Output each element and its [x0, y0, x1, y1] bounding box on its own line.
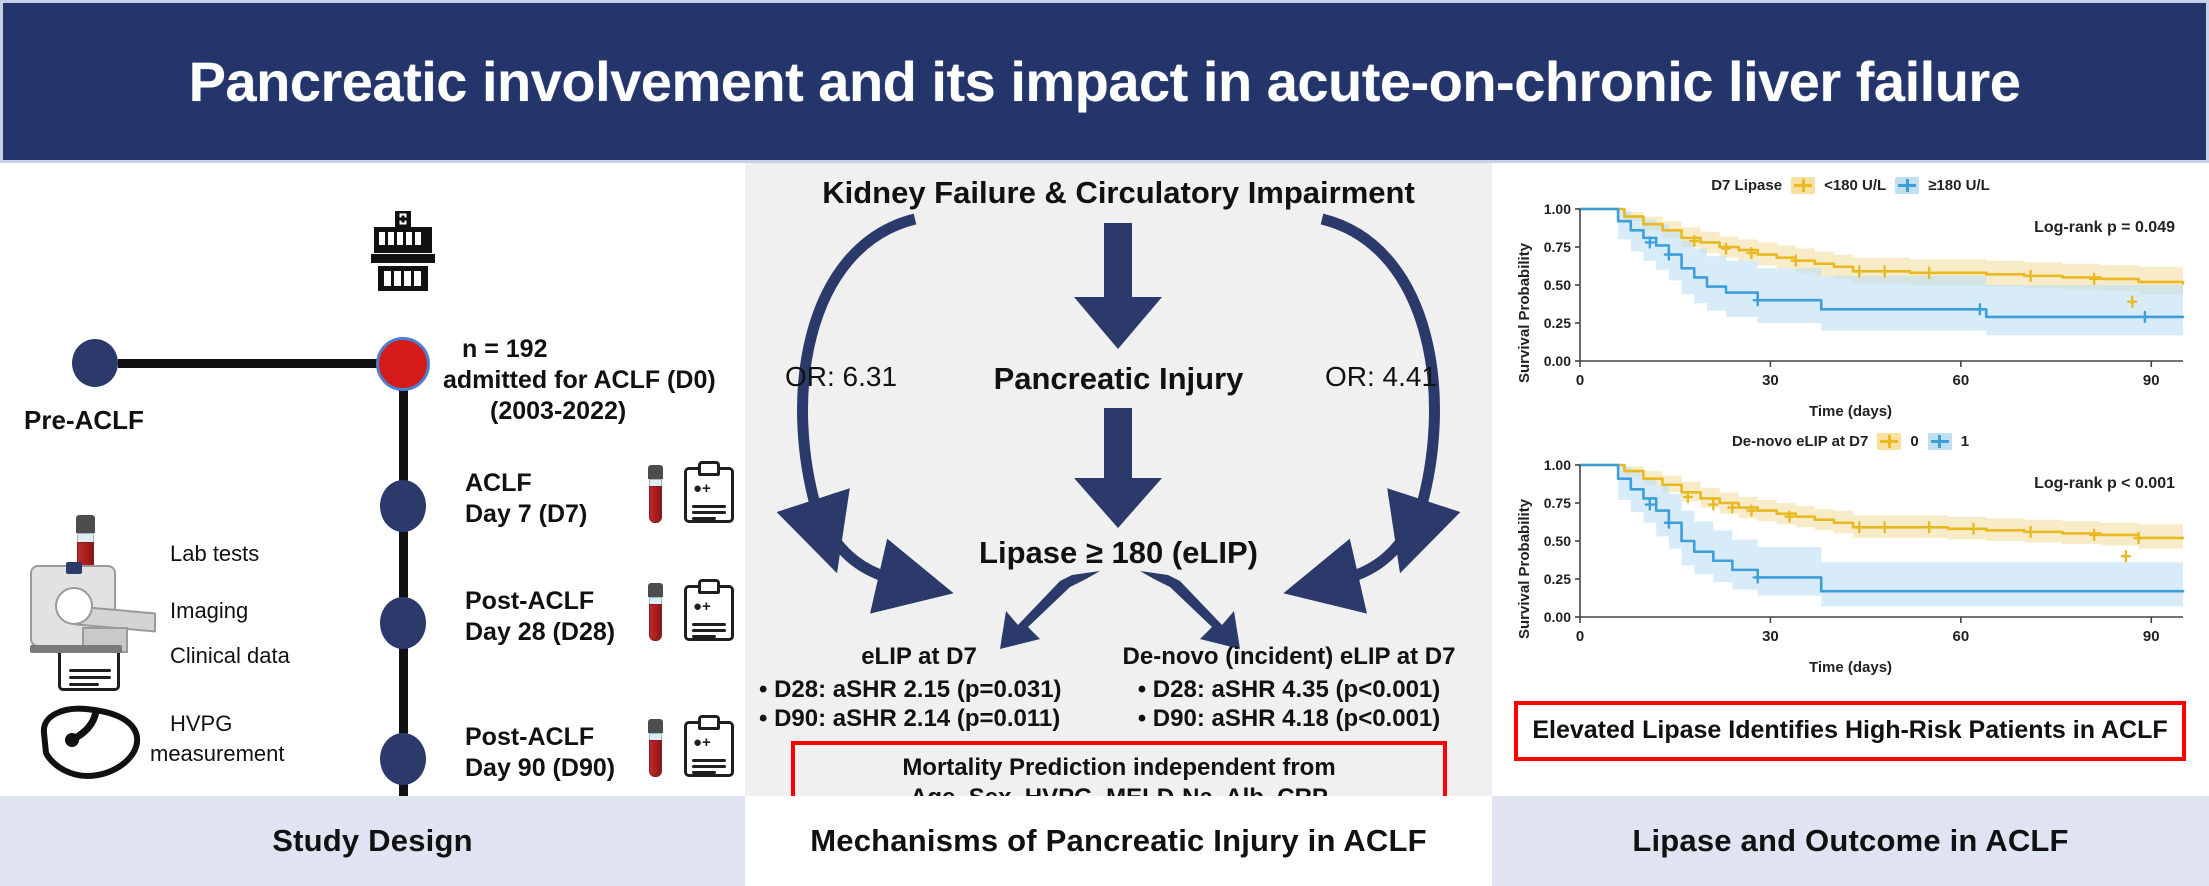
admission-detail: admitted for ACLF (D0) [443, 366, 716, 395]
svg-text:0: 0 [1576, 628, 1584, 645]
outcome-callout-box: Elevated Lipase Identifies High-Risk Pat… [1514, 701, 2186, 761]
outcome-column-elip: eLIP at D7 • D28: aSHR 2.15 (p=0.031) • … [759, 643, 1079, 734]
data-source-label-lab: Lab tests [170, 541, 259, 567]
timepoint-d90-line1: Post-ACLF [465, 723, 594, 752]
clipboard-icon-d7: ●+ [684, 461, 734, 523]
km-annotation-2: Log-rank p < 0.001 [2034, 475, 2175, 493]
blood-tube-icon-d28 [648, 583, 663, 641]
km-xlabel-2: Time (days) [1504, 659, 2197, 676]
outcome-title-denovo: De-novo (incident) eLIP at D7 [1093, 643, 1485, 671]
mechanism-callout-line1: Mortality Prediction independent from [902, 753, 1335, 783]
svg-text:0.75: 0.75 [1544, 239, 1571, 255]
svg-text:0.25: 0.25 [1544, 571, 1571, 587]
outcome-line-denovo-d28: • D28: aSHR 4.35 (p<0.001) [1093, 675, 1485, 704]
svg-text:60: 60 [1952, 628, 1969, 645]
blood-tube-icon-d7 [648, 465, 663, 523]
footer-label-mid: Mechanisms of Pancreatic Injury in ACLF [810, 823, 1426, 859]
km-legend-1: D7 Lipase <180 U/L ≥180 U/L [1504, 177, 2197, 194]
timeline-horizontal-line [118, 359, 408, 368]
timepoint-d7-line2: Day 7 (D7) [465, 500, 587, 529]
km-legend-swatch-yellow-2 [1877, 433, 1901, 450]
km-xlabel-1: Time (days) [1504, 403, 2197, 420]
svg-text:30: 30 [1762, 628, 1779, 645]
timeline-dot-d90 [380, 733, 426, 785]
timeline-label-pre-aclf: Pre-ACLF [24, 406, 144, 436]
svg-text:60: 60 [1952, 372, 1969, 389]
svg-text:0.50: 0.50 [1544, 533, 1571, 549]
svg-text:30: 30 [1762, 372, 1779, 389]
liver-icon [26, 695, 158, 793]
split-arrows-icon [1000, 571, 1240, 651]
outcome-callout-text: Elevated Lipase Identifies High-Risk Pat… [1532, 715, 2167, 746]
timeline-dot-admission [376, 337, 430, 391]
blood-tube-icon-d90 [648, 719, 663, 777]
timepoint-d28-line1: Post-ACLF [465, 587, 594, 616]
km-legend-title-2: De-novo eLIP at D7 [1732, 433, 1868, 450]
timeline-vertical-line [399, 363, 408, 796]
down-arrow-icon-2 [1070, 408, 1166, 530]
admission-years: (2003-2022) [490, 397, 626, 426]
down-arrow-icon-1 [1070, 223, 1166, 351]
km-legend-title-1: D7 Lipase [1711, 177, 1782, 194]
outcome-line-elip-d90: • D90: aSHR 2.14 (p=0.011) [759, 704, 1079, 733]
panel-mechanisms: Kidney Failure & Circulatory Impairment [745, 163, 1492, 796]
panel-outcome: D7 Lipase <180 U/L ≥180 U/L Survival Pro… [1492, 163, 2209, 796]
svg-text:0.75: 0.75 [1544, 495, 1571, 511]
footer-label-left: Study Design [272, 823, 472, 859]
footer-outcome: Lipase and Outcome in ACLF [1492, 796, 2209, 886]
svg-text:0.00: 0.00 [1544, 353, 1571, 369]
mechanism-low-node: Lipase ≥ 180 (eLIP) [745, 535, 1492, 571]
data-source-label-clinical: Clinical data [170, 643, 290, 669]
timeline-dot-pre-aclf [72, 339, 118, 387]
km-legend-label-blue-1: ≥180 U/L [1928, 177, 1990, 194]
km-chart-denovo-elip: De-novo eLIP at D7 0 1 Survival Probabil… [1504, 427, 2197, 685]
svg-text:1.00: 1.00 [1544, 457, 1571, 473]
footer-label-right: Lipase and Outcome in ACLF [1632, 823, 2068, 859]
or-label-right: OR: 4.41 [1325, 361, 1437, 393]
svg-text:90: 90 [2143, 372, 2160, 389]
panels-container: Pre-ACLF n = 192 admitted for ACLF (D0) … [0, 163, 2209, 886]
km-legend-swatch-yellow-1 [1791, 177, 1815, 194]
timepoint-d28-line2: Day 28 (D28) [465, 618, 615, 647]
ct-scanner-icon [30, 565, 158, 657]
km-legend-label-yellow-2: 0 [1910, 433, 1918, 450]
data-source-label-hvpg-line2: measurement [150, 741, 285, 767]
outcome-line-denovo-d90: • D90: aSHR 4.18 (p<0.001) [1093, 704, 1485, 733]
mechanism-callout-box: Mortality Prediction independent from Ag… [791, 741, 1447, 796]
km-legend-label-blue-2: 1 [1961, 433, 1969, 450]
outcome-line-elip-d28: • D28: aSHR 2.15 (p=0.031) [759, 675, 1079, 704]
or-label-left: OR: 6.31 [785, 361, 897, 393]
km-annotation-1: Log-rank p = 0.049 [2034, 219, 2175, 237]
svg-text:0.00: 0.00 [1544, 609, 1571, 625]
footer-mechanisms: Mechanisms of Pancreatic Injury in ACLF [745, 796, 1492, 886]
km-legend-2: De-novo eLIP at D7 0 1 [1504, 433, 2197, 450]
data-source-label-hvpg-line1: HVPG [170, 711, 232, 737]
svg-text:0: 0 [1576, 372, 1584, 389]
page-title: Pancreatic involvement and its impact in… [189, 51, 2021, 113]
svg-text:1.00: 1.00 [1544, 201, 1571, 217]
svg-text:90: 90 [2143, 628, 2160, 645]
footer-study-design: Study Design [0, 796, 745, 886]
km-legend-label-yellow-1: <180 U/L [1824, 177, 1886, 194]
timepoint-d7-line1: ACLF [465, 469, 532, 498]
outcome-title-elip: eLIP at D7 [759, 643, 1079, 671]
clipboard-icon-d90: ●+ [684, 715, 734, 777]
clipboard-icon-d28: ●+ [684, 579, 734, 641]
hospital-icon [366, 211, 440, 291]
timeline-dot-d28 [380, 597, 426, 649]
svg-text:0.25: 0.25 [1544, 315, 1571, 331]
abstract-header: Pancreatic involvement and its impact in… [0, 0, 2209, 163]
panel-study-design: Pre-ACLF n = 192 admitted for ACLF (D0) … [0, 163, 745, 796]
km-legend-swatch-blue-1 [1895, 177, 1919, 194]
svg-text:0.50: 0.50 [1544, 277, 1571, 293]
km-legend-swatch-blue-2 [1928, 433, 1952, 450]
km-chart-d7-lipase: D7 Lipase <180 U/L ≥180 U/L Survival Pro… [1504, 171, 2197, 429]
mechanism-callout-line2: Age, Sex, HVPG, MELD-Na, Alb, CRP [902, 783, 1335, 796]
mechanism-callout-text: Mortality Prediction independent from Ag… [902, 753, 1335, 796]
graphical-abstract: Pancreatic involvement and its impact in… [0, 0, 2209, 886]
data-source-label-imaging: Imaging [170, 598, 248, 624]
admission-n: n = 192 [462, 335, 547, 364]
outcome-column-denovo: De-novo (incident) eLIP at D7 • D28: aSH… [1093, 643, 1485, 734]
timeline-dot-d7 [380, 480, 426, 532]
timepoint-d90-line2: Day 90 (D90) [465, 754, 615, 783]
